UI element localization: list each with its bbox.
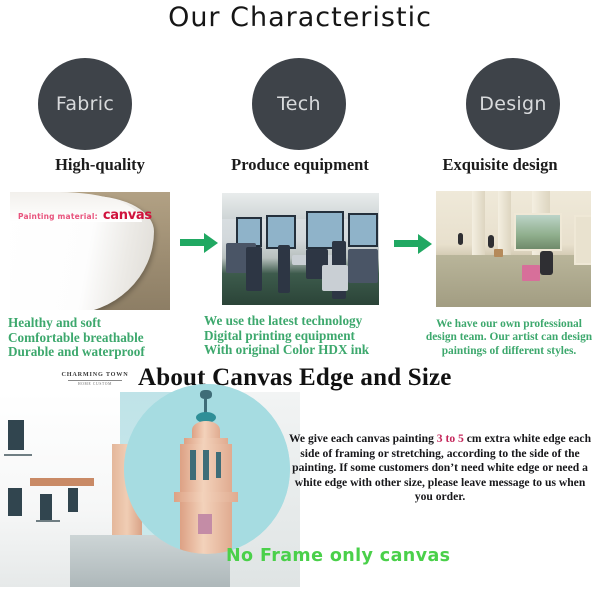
feature-heading-design: Exquisite design	[400, 155, 600, 175]
canvas-material-label: Painting material: canvas	[18, 204, 152, 223]
caption-line: paintings of different styles.	[420, 345, 598, 358]
painting-studio-photo	[436, 191, 591, 307]
canvas-roll	[322, 265, 348, 291]
page-title: Our Characteristic	[0, 2, 600, 33]
window	[40, 494, 52, 520]
belfry-opening	[203, 450, 209, 480]
magnified-bell-tower	[170, 412, 242, 554]
caption-line: Comfortable breathable	[8, 331, 145, 346]
green-right-arrow	[180, 233, 220, 253]
canvas-roll-photo: Painting material: canvas	[10, 192, 170, 310]
green-right-arrow	[394, 234, 434, 254]
studio-column	[472, 191, 485, 263]
feature-caption-tech: We use the latest technology Digital pri…	[204, 314, 369, 358]
window	[68, 488, 78, 512]
paragraph-part-1: We give each canvas painting	[289, 432, 437, 445]
caption-line: With original Color HDX ink	[204, 343, 369, 358]
tiled-roof	[30, 478, 94, 486]
painter-figure	[488, 235, 494, 248]
painter-stool	[494, 249, 503, 257]
studio-floor	[436, 255, 591, 307]
arrow-shaft	[394, 240, 420, 247]
feature-circle-label: Fabric	[56, 93, 114, 115]
tower-balcony	[174, 492, 238, 502]
printing-machine	[246, 247, 262, 291]
feature-circle-label: Tech	[277, 93, 321, 115]
canvas-label-big: canvas	[103, 208, 152, 223]
feature-circle-design[interactable]: Design	[466, 58, 560, 150]
balcony-rail	[4, 454, 32, 456]
edge-size-paragraph: We give each canvas painting 3 to 5 cm e…	[286, 432, 594, 505]
poster-root: Our Characteristic Fabric Tech Design Hi…	[0, 0, 600, 600]
painter-stool	[522, 265, 540, 281]
canvas-label-small: Painting material:	[18, 212, 98, 221]
arrow-head	[418, 234, 432, 254]
factory-window	[266, 215, 296, 249]
belfry-opening	[190, 450, 196, 480]
logo-divider	[68, 380, 122, 381]
feature-circle-label: Design	[479, 93, 546, 115]
printing-machine	[278, 245, 290, 293]
balcony-rail	[36, 520, 60, 522]
painter-figure	[540, 251, 553, 275]
feature-circle-tech[interactable]: Tech	[252, 58, 346, 150]
tower-weathervane	[200, 390, 212, 399]
window	[8, 420, 24, 450]
caption-line: We have our own professional	[420, 318, 598, 331]
feature-heading-tech: Produce equipment	[200, 155, 400, 175]
caption-line: Durable and waterproof	[8, 345, 145, 360]
canvas-on-wall	[574, 215, 591, 265]
printing-factory-photo	[222, 193, 379, 305]
arrow-head	[204, 233, 218, 253]
caption-line: design team. Our artist can design	[420, 331, 598, 344]
painter-figure	[458, 233, 463, 245]
caption-line: We use the latest technology	[204, 314, 369, 329]
factory-window	[348, 213, 378, 247]
paragraph-highlight: 3 to 5	[437, 432, 464, 445]
brand-name: CHARMING TOWN	[54, 371, 136, 378]
tower-base-window	[198, 514, 212, 534]
belfry-opening	[216, 452, 221, 478]
no-frame-note: No Frame only canvas	[226, 546, 486, 566]
window	[8, 488, 22, 516]
printing-machine	[348, 249, 378, 283]
tower-lantern	[192, 421, 220, 439]
feature-caption-fabric: Healthy and soft Comfortable breathable …	[8, 316, 145, 360]
feature-caption-design: We have our own professional design team…	[420, 318, 598, 358]
feature-heading-fabric: High-quality	[0, 155, 200, 175]
feature-circle-fabric[interactable]: Fabric	[38, 58, 132, 150]
magnified-tower-circle	[124, 384, 290, 554]
caption-line: Digital printing equipment	[204, 329, 369, 344]
caption-line: Healthy and soft	[8, 316, 145, 331]
tower-spire-rod	[204, 399, 207, 413]
landscape-painting	[514, 213, 562, 251]
arrow-shaft	[180, 239, 206, 246]
